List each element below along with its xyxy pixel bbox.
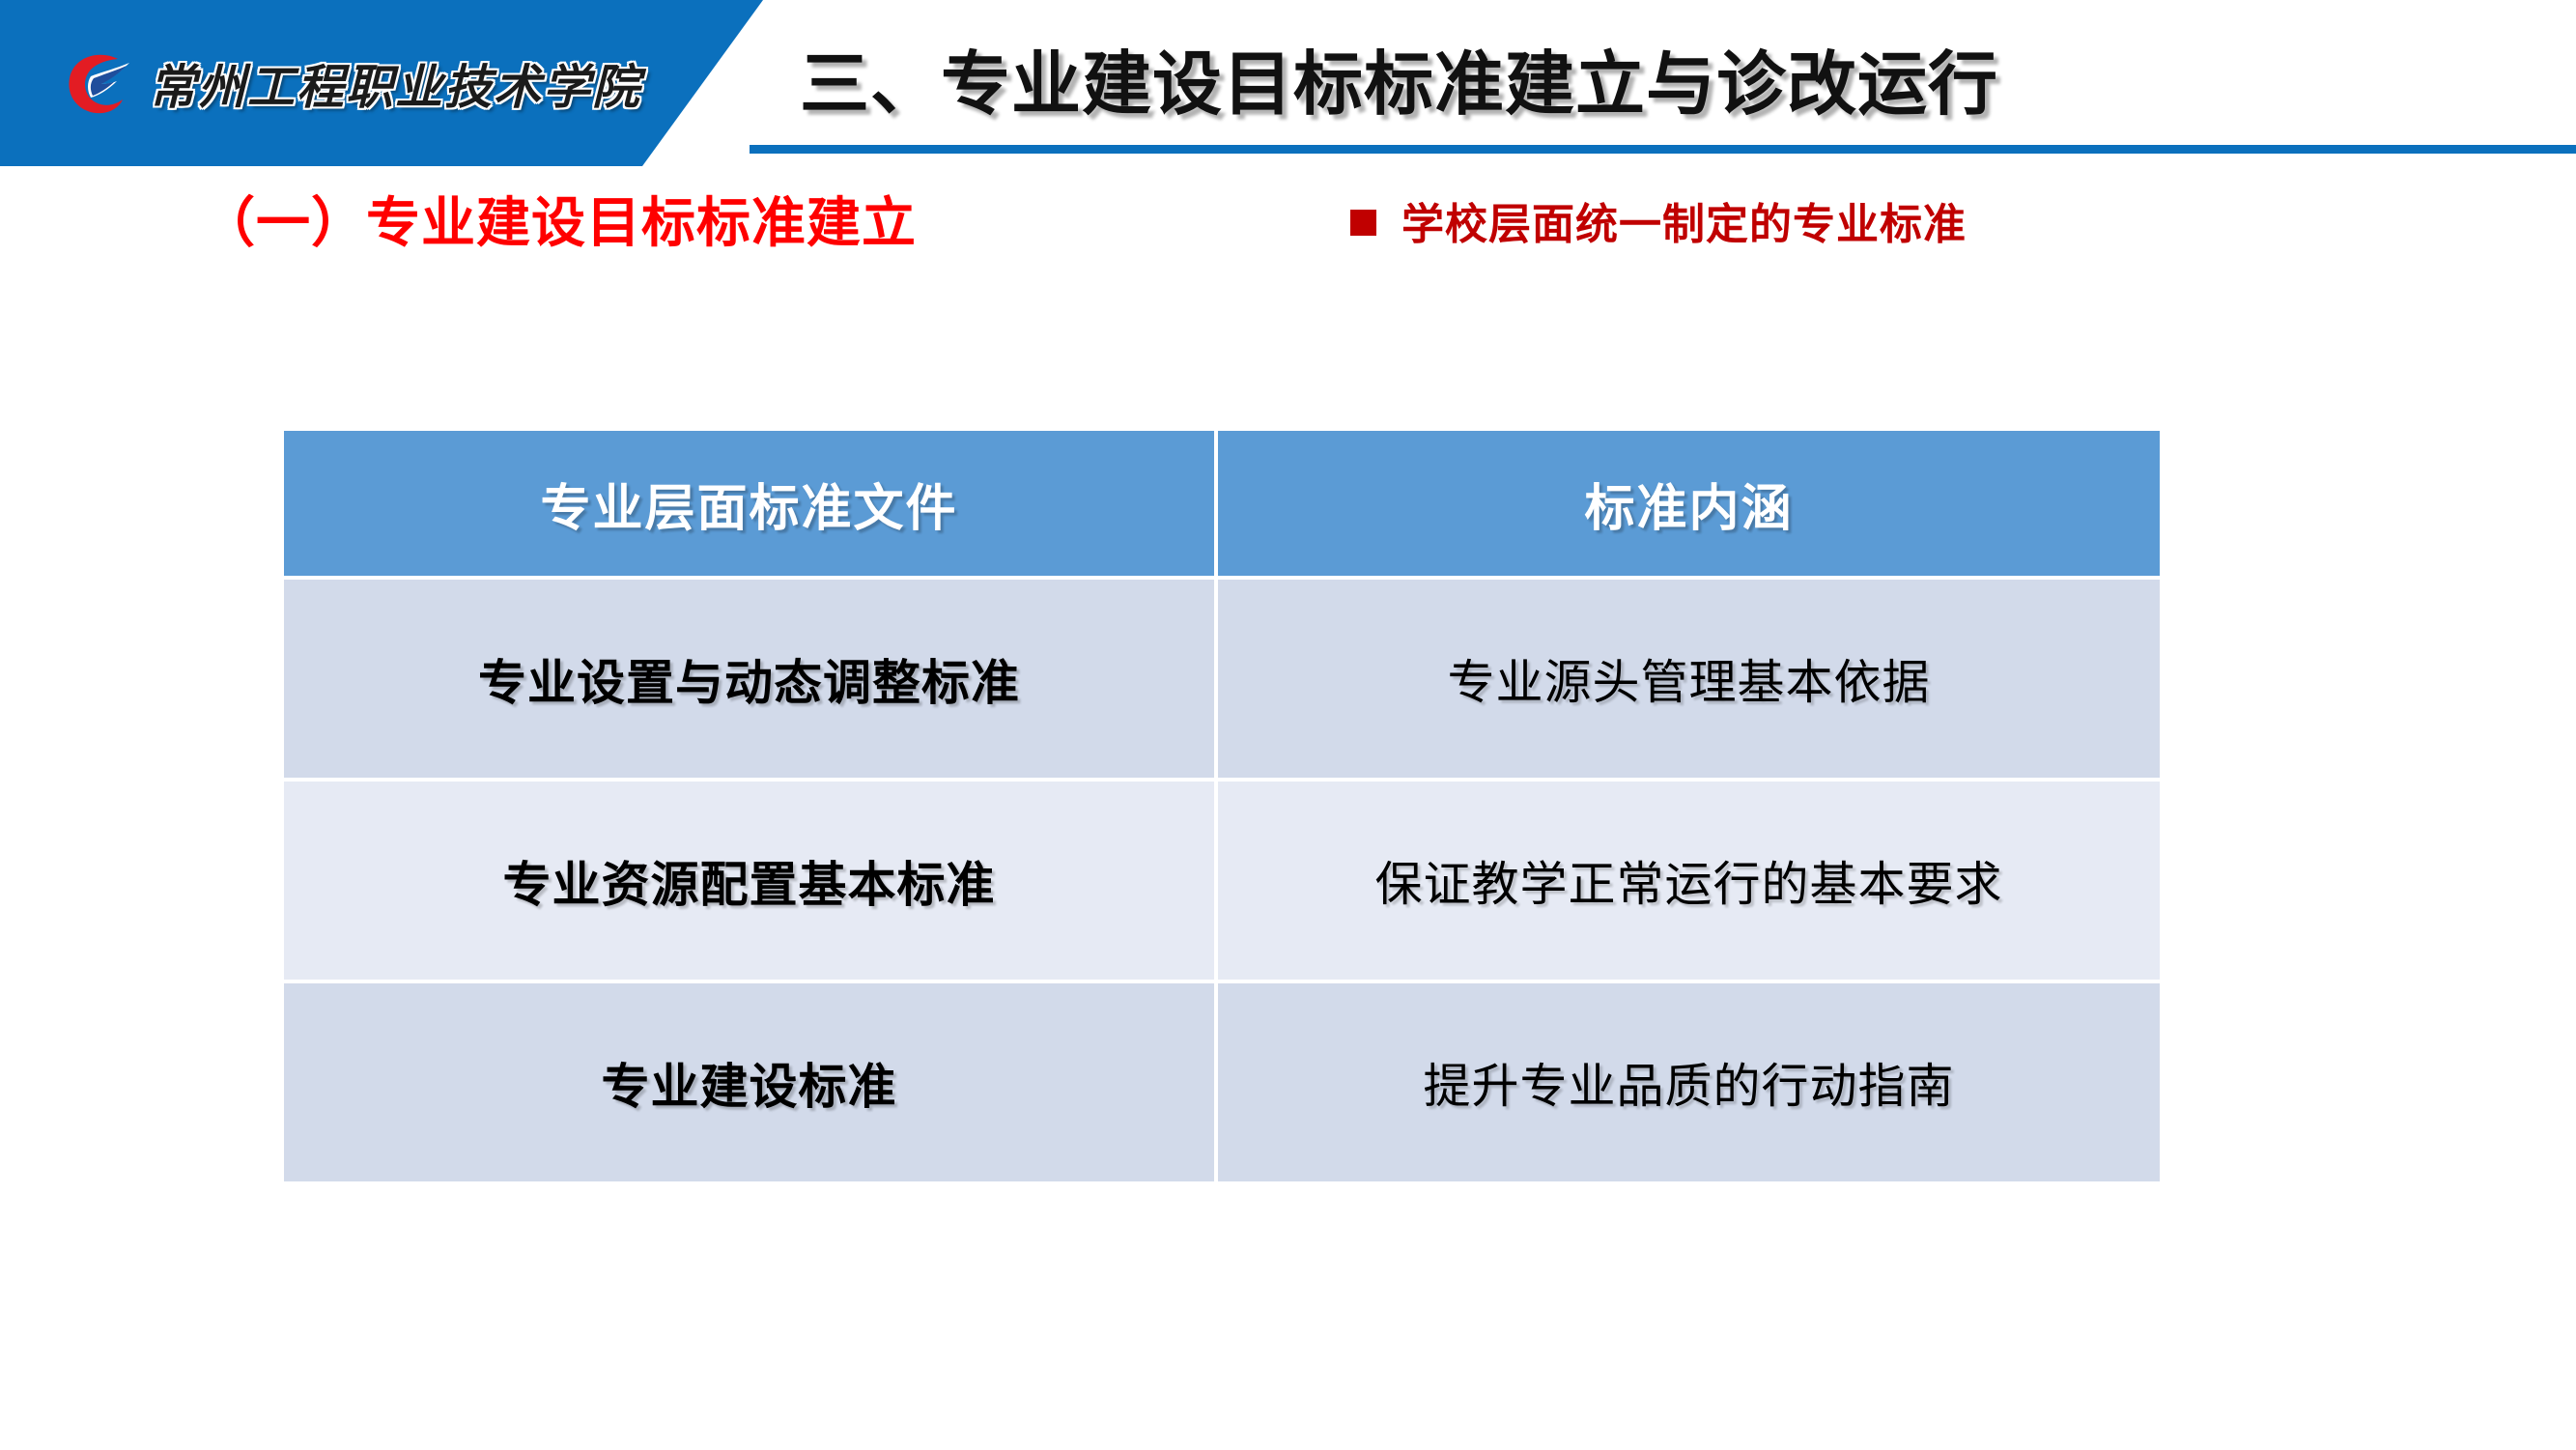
institute-swoosh-logo-icon — [62, 47, 135, 119]
cell-standard-connotation: 专业源头管理基本依据 — [1218, 580, 2160, 778]
table-row: 专业资源配置基本标准 保证教学正常运行的基本要求 — [284, 782, 2160, 980]
header-divider-line — [750, 145, 2576, 154]
professional-standards-table: 专业层面标准文件 标准内涵 专业设置与动态调整标准 专业源头管理基本依据 专业资… — [280, 427, 2164, 1185]
table-row: 专业设置与动态调整标准 专业源头管理基本依据 — [284, 580, 2160, 778]
institute-name: 常州工程职业技术学院 — [149, 49, 641, 118]
slide-header: 常州工程职业技术学院 三、专业建设目标标准建立与诊改运行 — [0, 0, 2576, 179]
table-header-row: 专业层面标准文件 标准内涵 — [284, 431, 2160, 576]
cell-standard-document: 专业资源配置基本标准 — [284, 782, 1214, 980]
table-row: 专业建设标准 提升专业品质的行动指南 — [284, 983, 2160, 1181]
cell-standard-connotation: 提升专业品质的行动指南 — [1218, 983, 2160, 1181]
cell-standard-connotation: 保证教学正常运行的基本要求 — [1218, 782, 2160, 980]
institute-logo: 常州工程职业技术学院 — [62, 44, 641, 122]
column-header-standard-document: 专业层面标准文件 — [284, 431, 1214, 576]
cell-standard-document: 专业设置与动态调整标准 — [284, 580, 1214, 778]
filled-square-bullet-icon — [1350, 210, 1376, 236]
slide-title: 三、专业建设目标标准建立与诊改运行 — [800, 27, 1998, 128]
cell-standard-document: 专业建设标准 — [284, 983, 1214, 1181]
bullet-item-label: 学校层面统一制定的专业标准 — [1401, 189, 1967, 251]
section-label: （一）专业建设目标标准建立 — [201, 180, 917, 258]
bullet-item: 学校层面统一制定的专业标准 — [1350, 189, 1967, 251]
column-header-standard-connotation: 标准内涵 — [1218, 431, 2160, 576]
subtitle-row: （一）专业建设目标标准建立 学校层面统一制定的专业标准 — [0, 180, 2576, 257]
